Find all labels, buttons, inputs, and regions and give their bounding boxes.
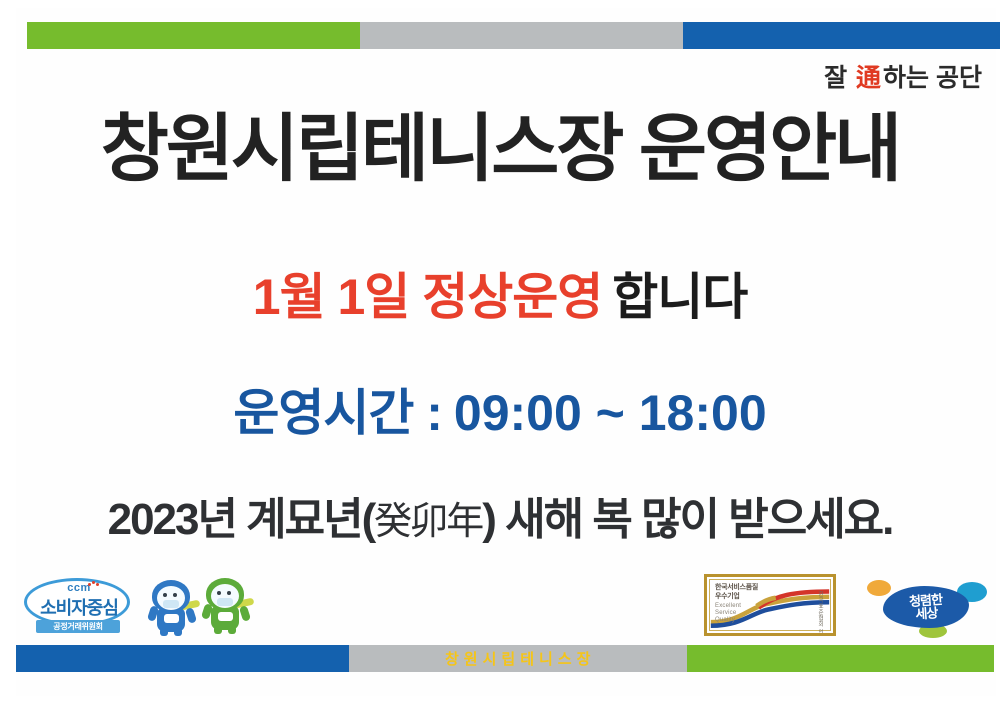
logo-strip: ccm 소비자중심 공정거래위원회 [16, 570, 994, 642]
ccm-certification-logo: ccm 소비자중심 공정거래위원회 [22, 576, 136, 634]
top-color-band [27, 22, 1000, 49]
mascot-mouth [163, 600, 179, 608]
operating-hours-line: 운영시간 :09:00 ~ 18:00 [0, 388, 1000, 438]
clean-world-logo: 청렴한 세상 [861, 570, 991, 640]
hours-label: 운영시간 : [233, 385, 442, 441]
ccm-dots-icon [88, 581, 98, 586]
bottom-color-band: 창원시립테니스장 [16, 645, 994, 672]
top-band-green [27, 22, 360, 49]
ccm-title-text: 소비자중심 [22, 594, 136, 620]
corporate-slogan: 잘 通하는 공단 [824, 58, 982, 94]
notice-tail: 합니다 [602, 269, 747, 325]
certificate-english-text: ExcellentServiceQuality [715, 603, 741, 624]
hours-value: 09:00 ~ 18:00 [442, 385, 767, 441]
footer-facility-name: 창원시립테니스장 [349, 645, 687, 672]
mascot-arm-right [239, 605, 251, 622]
mascot-eye-right [227, 591, 231, 595]
bottom-band-gray: 창원시립테니스장 [349, 645, 687, 672]
top-band-gray [360, 22, 683, 49]
bottom-band-blue [16, 645, 349, 672]
bottom-band-green [687, 645, 994, 672]
clean-blob-shape: 청렴한 세상 [883, 586, 969, 628]
mascot-belly-badge [218, 612, 233, 621]
mascot-eye-left [163, 593, 167, 597]
green-mascot-icon [200, 576, 252, 634]
blue-mascot-icon [146, 578, 198, 636]
mascot-belly-badge [164, 614, 179, 623]
slogan-prefix: 잘 [824, 64, 854, 92]
mascot-characters [142, 576, 262, 636]
certificate-korean-text: 한국서비스품질우수기업 [715, 583, 758, 601]
clean-dot-orange [867, 580, 891, 596]
greeting-prefix: 2023년 계묘년( [108, 495, 375, 544]
clean-world-text: 청렴한 세상 [882, 591, 970, 623]
greeting-suffix: ) 새해 복 많이 받으세요. [482, 495, 892, 544]
certificate-side-text: 한국표준협회 인증 [816, 591, 824, 636]
mascot-eye-left [217, 591, 221, 595]
mascot-leg-right [228, 626, 236, 634]
new-year-greeting: 2023년 계묘년(癸卯年) 새해 복 많이 받으세요. [0, 498, 1000, 542]
mascot-mouth [217, 598, 233, 606]
poster-page: 잘 通하는 공단 창원시립테니스장 운영안내 1월 1일 정상운영합니다 운영시… [0, 0, 1000, 707]
ccm-mark-text: ccm [22, 582, 136, 594]
mascot-leg-right [174, 628, 182, 636]
page-title: 창원시립테니스장 운영안내 [0, 112, 1000, 186]
mascot-eye-right [173, 593, 177, 597]
mascot-leg-left [160, 628, 168, 636]
mascot-arm-right [185, 607, 197, 624]
mascot-leg-left [214, 626, 222, 634]
notice-highlight: 1월 1일 정상운영 [253, 269, 602, 325]
service-quality-certificate: 한국서비스품질우수기업 ExcellentServiceQuality 한국표준… [704, 574, 836, 636]
slogan-suffix: 하는 공단 [883, 64, 982, 92]
greeting-hanja: 癸卯年 [374, 499, 482, 543]
top-band-blue [683, 22, 1000, 49]
ccm-authority-banner: 공정거래위원회 [36, 620, 120, 633]
slogan-hanja: 通 [854, 64, 883, 92]
notice-line: 1월 1일 정상운영합니다 [0, 272, 1000, 322]
